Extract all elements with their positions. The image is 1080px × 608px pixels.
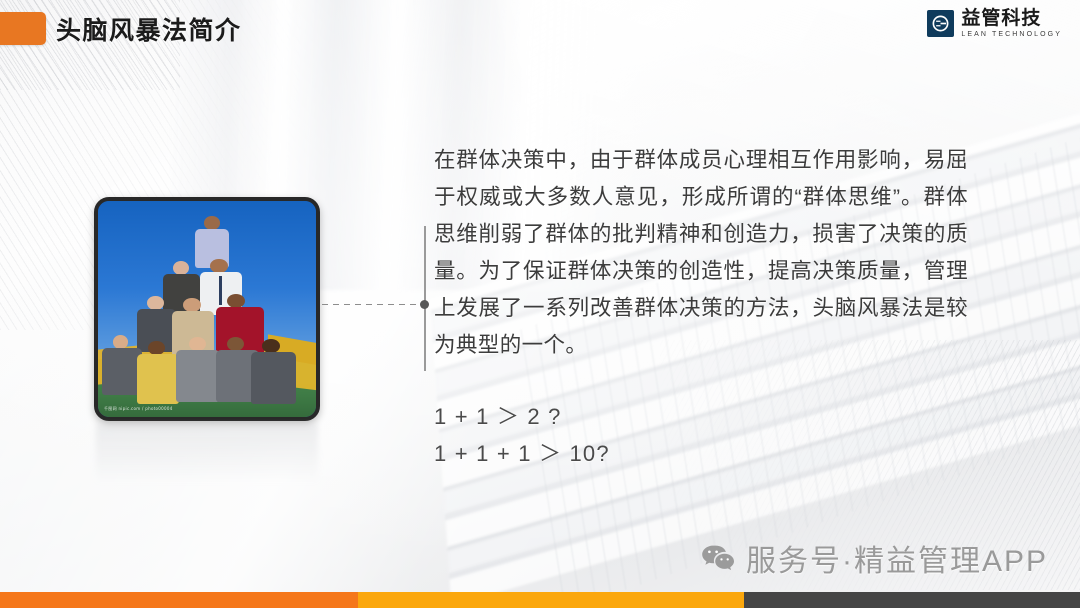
photo-person (176, 337, 220, 402)
photo-reflection (96, 424, 318, 494)
photo-credit: 千图网 nipic.com / photo00004 (104, 406, 173, 412)
bottom-bar-segment-amber (358, 592, 744, 608)
brand-logo-text: 益管科技 LEAN TECHNOLOGY (961, 9, 1062, 38)
page-title: 头脑风暴法简介 (56, 11, 242, 47)
photo-person (102, 335, 141, 395)
photo-image: 千图网 nipic.com / photo00004 (98, 201, 316, 417)
bottom-bar-segment-orange (0, 592, 358, 608)
brand-name-en: LEAN TECHNOLOGY (961, 31, 1062, 38)
photo-frame: 千图网 nipic.com / photo00004 (94, 197, 320, 421)
body-paragraph: 在群体决策中，由于群体成员心理相互作用影响，易屈于权威或大多数人意见，形成所谓的… (434, 142, 968, 364)
formula-block: 1 + 1 ＞ 2 ? 1 + 1 + 1 ＞ 10? (434, 398, 610, 472)
brand-name-cn: 益管科技 (961, 9, 1062, 28)
formula-line-2: 1 + 1 + 1 ＞ 10? (434, 435, 610, 472)
photo-person (251, 339, 297, 404)
bottom-bar-segment-dark (744, 592, 1080, 608)
slide-canvas: 头脑风暴法简介 益管科技 LEAN TECHNOLOGY (0, 0, 1080, 608)
formula-line-1: 1 + 1 ＞ 2 ? (434, 398, 610, 435)
wechat-label: 服务号·精益管理APP (746, 536, 1048, 580)
wechat-icon (701, 544, 735, 572)
illustration-photo: 千图网 nipic.com / photo00004 (94, 197, 320, 421)
title-marker-icon (0, 12, 46, 45)
brand-logo: 益管科技 LEAN TECHNOLOGY (927, 9, 1062, 38)
photo-person (137, 341, 178, 404)
connector-vertical-line (424, 226, 426, 371)
eg-monogram-icon (927, 10, 954, 37)
bottom-color-bar (0, 592, 1080, 608)
connector-dot-icon (420, 300, 429, 309)
wechat-footer: 服务号·精益管理APP (701, 536, 1048, 580)
dashed-connector-line (322, 304, 424, 305)
